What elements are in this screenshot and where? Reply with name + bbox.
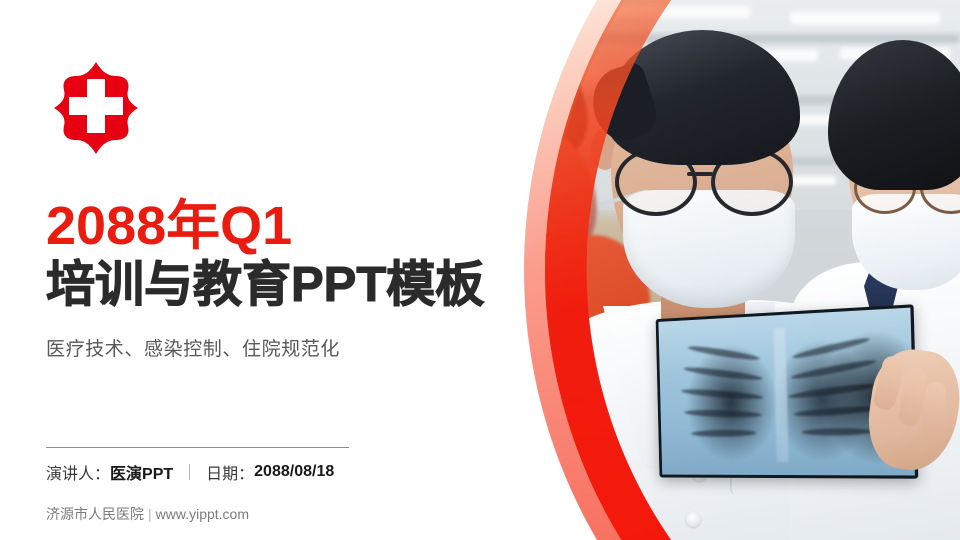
hair [605,30,800,165]
footnote: 济源市人民医院|www.yippt.com [46,504,249,524]
presenter-meta: 演讲人： 医演PPT 日期： 2088/08/18 [46,460,334,484]
footnote-separator: | [144,506,156,522]
presentation-slide: 2088年Q1 培训与教育PPT模板 医疗技术、感染控制、住院规范化 演讲人： … [0,0,960,540]
presenter-label: 演讲人： [46,460,110,484]
date-value: 2088/08/18 [254,463,334,481]
subtitle: 医疗技术、感染控制、住院规范化 [46,334,340,361]
date-label: 日期： [206,460,254,484]
coat-button [686,512,701,527]
website-url[interactable]: www.yippt.com [156,506,249,522]
divider-line [46,447,349,448]
title-block: 2088年Q1 培训与教育PPT模板 [46,196,516,314]
title-line-1: 2088年Q1 [46,196,516,256]
hair [828,40,960,190]
organization-name: 济源市人民医院 [46,506,144,522]
hospital-cross-icon [46,58,146,158]
presenter-value: 医演PPT [110,460,173,484]
title-line-2: 培训与教育PPT模板 [46,256,516,314]
meta-separator [189,464,190,480]
